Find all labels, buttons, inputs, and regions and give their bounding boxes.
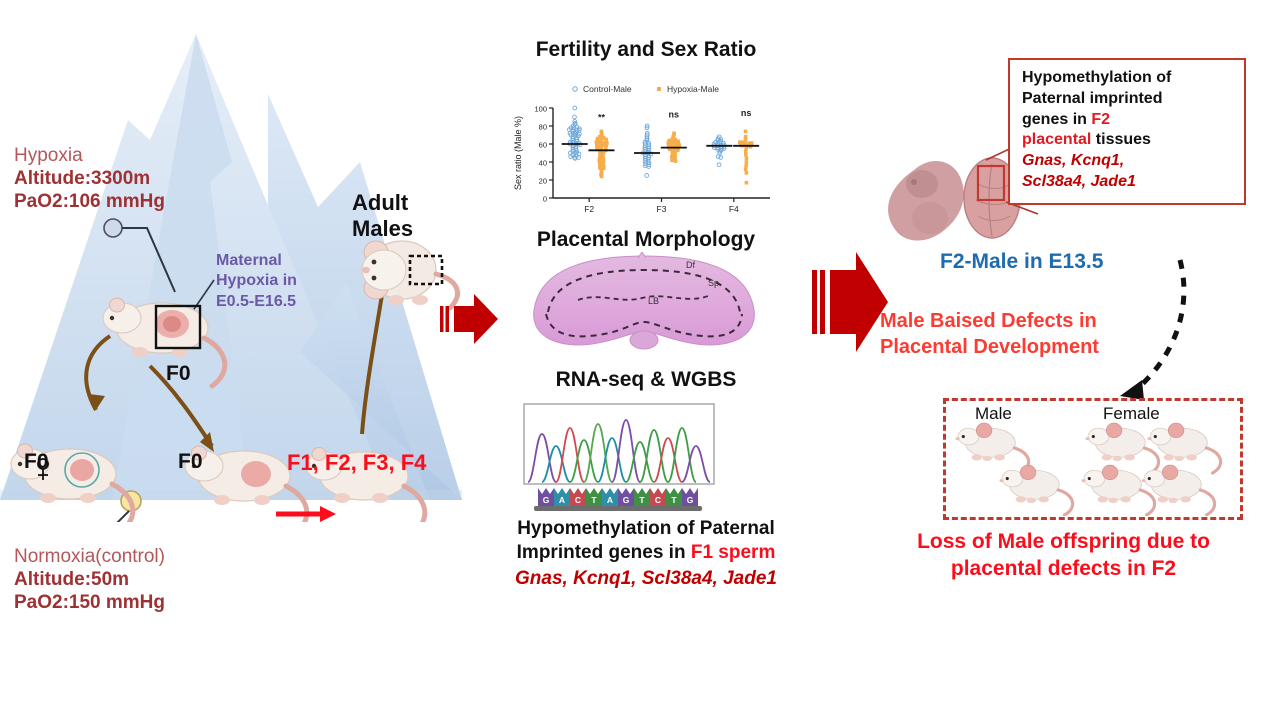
placenta-label-lb: LB (648, 296, 659, 306)
y-tick-label: 80 (539, 123, 547, 132)
male-biased-defects-label: Male Baised Defects in Placental Develop… (880, 308, 1100, 360)
data-point-hypoxia (744, 137, 748, 141)
graphical-abstract: Hypoxia Altitude:3300m PaO2:106 mmHg Nor… (0, 0, 1267, 728)
generation-label-f0-left: F0 (24, 450, 49, 474)
dna-base-letter: T (671, 495, 677, 505)
y-tick-label: 60 (539, 141, 547, 150)
data-point-hypoxia (674, 159, 678, 163)
caption-line2-red: F1 sperm (691, 542, 775, 563)
normoxia-heading: Normoxia(control) (14, 545, 274, 568)
data-point-hypoxia (744, 149, 748, 153)
x-tick-label-F3: F3 (657, 204, 667, 214)
embryo-stage-label: F2-Male in E13.5 (940, 250, 1103, 274)
offspring-mouse-female (1081, 465, 1154, 515)
callout-line4-black: tissues (1091, 131, 1151, 148)
dna-base-track: GACTAGTCTG (534, 488, 702, 511)
dna-base-letter: G (623, 495, 630, 505)
dashed-curve-arrow (1088, 250, 1218, 410)
dna-backbone (534, 506, 702, 511)
hypoxia-heading: Hypoxia (14, 144, 264, 167)
x-tick-label-F4: F4 (729, 204, 739, 214)
data-point-hypoxia (670, 158, 674, 162)
data-point-hypoxia (744, 153, 748, 157)
data-point-hypoxia (745, 171, 749, 175)
callout-line4-red: placental (1022, 131, 1091, 148)
dna-base-letter: A (559, 495, 565, 505)
data-point-hypoxia (745, 160, 749, 164)
significance-label-F2: ** (598, 112, 606, 122)
y-tick-label: 40 (539, 159, 547, 168)
legend-marker-control (573, 87, 577, 91)
section-title-placental-morphology: Placental Morphology (466, 228, 826, 252)
data-point-control (573, 115, 577, 119)
callout-line1: Hypomethylation of (1022, 68, 1234, 89)
dna-base-letter: G (543, 495, 550, 505)
dna-base-letter: A (607, 495, 613, 505)
hypoxia-altitude: Altitude:3300m (14, 167, 264, 190)
middle-caption: Hypomethylation of Paternal Imprinted ge… (466, 517, 826, 565)
normoxia-pao2: PaO2:150 mmHg (14, 591, 274, 614)
data-point-hypoxia (745, 157, 749, 161)
callout-box-hypomethylation: Hypomethylation of Paternal imprinted ge… (1008, 58, 1246, 205)
data-point-hypoxia (744, 130, 748, 134)
data-point-control (717, 163, 721, 167)
offspring-mice-group (952, 420, 1240, 516)
generation-label-f0-mid: F0 (178, 450, 203, 474)
significance-label-F4: ns (741, 108, 752, 118)
data-point-hypoxia (745, 181, 749, 185)
callout-line2: Paternal imprinted (1022, 89, 1234, 110)
generation-label-offspring: F1, F2, F3, F4 (287, 450, 426, 476)
caption-line2-black: Imprinted genes in (517, 542, 691, 563)
callout-line3-black: genes in (1022, 111, 1091, 128)
dna-base-letter: G (687, 495, 694, 505)
data-point-hypoxia (600, 175, 604, 179)
left-panel-mountain-scene: Hypoxia Altitude:3300m PaO2:106 mmHg Nor… (0, 22, 462, 522)
middle-caption-genes: Gnas, Kcnq1, Scl38a4, Jade1 (466, 568, 826, 590)
x-tick-label-F2: F2 (584, 204, 594, 214)
conclusion-line1: Loss of Male offspring due to (860, 528, 1267, 555)
y-axis-label: Sex ratio (Male %) (513, 116, 523, 190)
dna-base-letter: C (655, 495, 661, 505)
y-tick-label: 20 (539, 177, 547, 186)
normoxia-altitude: Altitude:50m (14, 568, 274, 591)
section-title-rnaseq: RNA-seq & WGBS (466, 368, 826, 392)
legend-label-control: Control-Male (583, 84, 632, 94)
middle-panel: Fertility and Sex Ratio 020406080100Sex … (466, 0, 826, 728)
callout-genes-line1: Gnas, Kcnq1, (1022, 151, 1234, 172)
data-point-control (573, 106, 577, 110)
y-tick-label: 0 (543, 195, 547, 204)
callout-line3-red: F2 (1091, 111, 1110, 128)
sex-ratio-scatter-chart: 020406080100Sex ratio (Male %)F2F3F4**ns… (511, 78, 776, 218)
dna-base-letter: C (575, 495, 581, 505)
offspring-mouse-male (999, 465, 1072, 515)
conclusion-line2: placental defects in F2 (860, 555, 1267, 582)
data-point-hypoxia (744, 164, 748, 168)
section-title-fertility: Fertility and Sex Ratio (466, 38, 826, 62)
dna-base-letter: T (639, 495, 645, 505)
maternal-hypoxia-label: Maternal Hypoxia in E0.5-E16.5 (216, 251, 336, 312)
right-panel: Hypomethylation of Paternal imprinted ge… (860, 0, 1267, 728)
data-point-control (716, 155, 720, 159)
offspring-mouse-female (1085, 423, 1158, 473)
data-point-control (719, 156, 723, 160)
placenta-histology-image: Df Sp LB (518, 252, 768, 362)
hypoxia-marker-dot (104, 219, 122, 237)
legend-marker-hypoxia (657, 87, 661, 91)
offspring-mouse-male (955, 423, 1028, 473)
conclusion-caption: Loss of Male offspring due to placental … (860, 528, 1267, 583)
significance-label-F3: ns (669, 110, 680, 120)
data-point-control (645, 174, 649, 178)
placenta-label-sp: Sp (708, 278, 719, 288)
caption-line1: Hypomethylation of Paternal (517, 518, 775, 539)
legend-label-hypoxia: Hypoxia-Male (667, 84, 719, 94)
normoxia-leader-line (72, 511, 129, 522)
normoxia-condition-label: Normoxia(control) Altitude:50m PaO2:150 … (14, 545, 274, 615)
dna-base-letter: T (591, 495, 597, 505)
generation-label-f0-top: F0 (166, 362, 191, 386)
hypoxia-condition-label: Hypoxia Altitude:3300m PaO2:106 mmHg (14, 144, 264, 214)
hypoxia-pao2: PaO2:106 mmHg (14, 190, 264, 213)
y-tick-label: 100 (534, 105, 547, 114)
placenta-label-df: Df (686, 260, 695, 270)
sanger-chromatogram: GACTAGTCTG (522, 402, 772, 514)
data-point-hypoxia (744, 167, 748, 171)
callout-genes-line2: Scl38a4, Jade1 (1022, 172, 1234, 193)
